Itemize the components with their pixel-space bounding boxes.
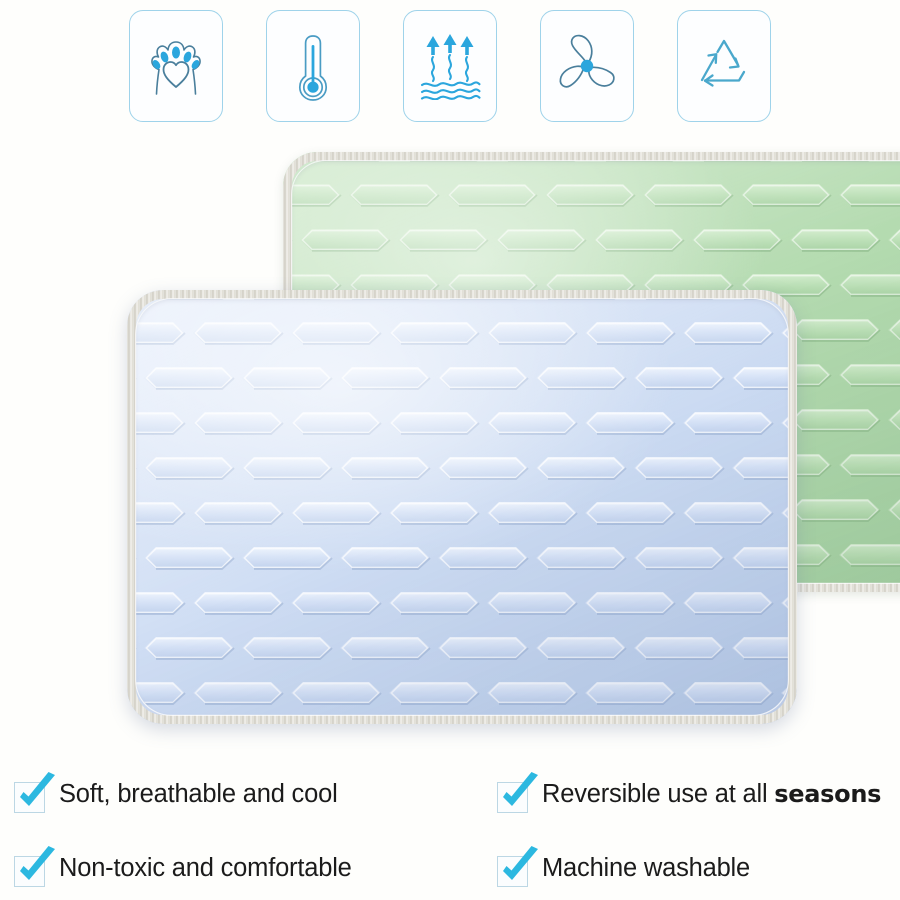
icon-card-paw-heart — [129, 10, 223, 122]
feature-item: Reversible use at all seasons — [497, 778, 881, 813]
feature-item: Machine washable — [497, 852, 750, 887]
paw-heart-icon — [145, 31, 207, 101]
feature-label: Soft, breathable and cool — [59, 778, 338, 809]
feature-item: Non-toxic and comfortable — [14, 852, 352, 887]
feature-label: Reversible use at all seasons — [542, 778, 881, 809]
checkmark-icon — [14, 782, 45, 813]
product-image-canvas: Soft, breathable and coolNon-toxic and c… — [0, 0, 900, 900]
fan-propeller-icon — [552, 31, 622, 101]
icon-card-recycle — [677, 10, 771, 122]
feature-label-emphasis: seasons — [774, 780, 881, 808]
checkmark-icon — [497, 856, 528, 887]
feature-icon-row — [0, 6, 900, 126]
feature-item: Soft, breathable and cool — [14, 778, 338, 813]
recycle-icon — [691, 35, 757, 97]
checkmark-icon — [14, 856, 45, 887]
feature-label: Machine washable — [542, 852, 750, 883]
breathable-evaporation-icon — [417, 32, 483, 100]
checkmark-icon — [497, 782, 528, 813]
thermometer-icon — [291, 28, 335, 104]
icon-card-breathable — [403, 10, 497, 122]
icon-card-fan — [540, 10, 634, 122]
feature-label: Non-toxic and comfortable — [59, 852, 352, 883]
feature-list: Soft, breathable and coolNon-toxic and c… — [0, 770, 900, 900]
icon-card-thermometer — [266, 10, 360, 122]
cooling-mat-blue — [127, 290, 797, 724]
quilt-pattern-blue — [136, 299, 788, 715]
